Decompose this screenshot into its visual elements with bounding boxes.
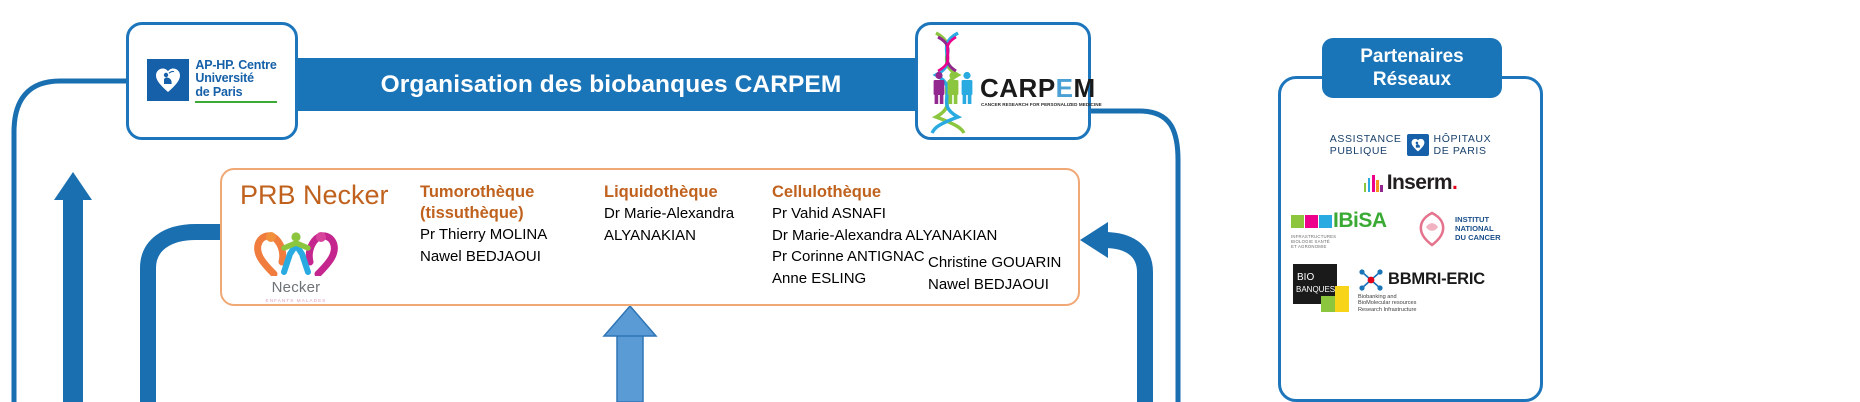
partner-logo-inca: INSTITUT NATIONAL DU CANCER (1412, 209, 1530, 249)
aphp-wordmark: AP-HP. Centre Université de Paris (195, 59, 276, 104)
person-name: ALYANAKIAN (604, 225, 764, 247)
column-heading-line-2: (tissuthèque) (420, 203, 605, 224)
bbmri-subtitle-line-3: Research Infrastructure (1358, 307, 1416, 313)
partners-header-pill: Partenaires Réseaux (1322, 38, 1502, 98)
person-name: Pr Thierry MOLINA (420, 224, 605, 246)
aphp-line-1: AP-HP. Centre (195, 59, 276, 73)
carpem-wordmark: CARPEM (980, 75, 1096, 101)
person-name: Anne ESLING (772, 268, 947, 290)
bbmri-network-icon (1358, 267, 1384, 293)
ibisa-subtitle-line-3: ET AGRONOMIE (1291, 244, 1327, 249)
person-name: Nawel BEDJAOUI (420, 246, 605, 268)
inserm-dot: . (1452, 171, 1457, 194)
biobanques-mark-icon: BIO BANQUES (1291, 262, 1351, 314)
right-in-arrowhead (1080, 222, 1108, 258)
bbmri-wordmark: BBMRI-ERIC (1388, 270, 1485, 289)
carpem-word-accent: E (1056, 73, 1074, 103)
left-inner-curve (148, 232, 226, 402)
ibisa-square-blue (1319, 215, 1332, 228)
aphp-line-3: de Paris (195, 86, 276, 100)
partner-logo-bbmri-eric: BBMRI-ERIC Biobanking and BioMolecular r… (1358, 267, 1530, 314)
partner-logo-ibisa: IBiSA INFRASTRUCTURES BIOLOGIE SANTÉ ET … (1291, 209, 1399, 250)
person-name: Pr Vahid ASNAFI (772, 203, 947, 225)
partner-logo-list: ASSISTANCE PUBLIQUE HÔPITAUX DE PARIS (1281, 131, 1540, 319)
aphp-hopitaux-label: HÔPITAUX (1434, 133, 1492, 145)
column-heading-line-1: Tumorothèque (420, 182, 605, 203)
necker-wordmark: Necker (244, 279, 348, 296)
partner-logo-aphp: ASSISTANCE PUBLIQUE HÔPITAUX DE PARIS (1291, 133, 1530, 157)
column-extra-staff: Christine GOUARIN Nawel BEDJAOUI (928, 252, 1078, 295)
heart-baby-icon (147, 59, 189, 101)
inca-ribbon-icon (1412, 209, 1452, 249)
aphp-line-2: Université (195, 72, 276, 86)
aphp-green-rule (195, 101, 276, 103)
bottom-center-up-arrow (604, 306, 656, 402)
ibisa-square-green (1291, 215, 1304, 228)
header-banner: Organisation des biobanques CARPEM (288, 58, 934, 111)
right-inner-curve (1104, 240, 1145, 402)
ibisa-subtitle: INFRASTRUCTURES BIOLOGIE SANTÉ ET AGRONO… (1291, 234, 1399, 250)
bbmri-subtitle-line-1: Biobanking and (1358, 294, 1397, 300)
inserm-wordmark: Inserm. (1387, 171, 1458, 195)
partner-logo-inserm: Inserm. (1291, 171, 1530, 195)
partner-row-3: BIO BANQUES (1291, 262, 1530, 319)
partners-panel: ASSISTANCE PUBLIQUE HÔPITAUX DE PARIS (1278, 76, 1543, 402)
aphp-heart-icon (1407, 134, 1429, 156)
column-heading-line-1: Liquidothèque (604, 182, 764, 203)
aphp-assistance-label: ASSISTANCE (1330, 133, 1402, 145)
aphp-publique-label: PUBLIQUE (1330, 145, 1402, 157)
partner-row-2: IBiSA INFRASTRUCTURES BIOLOGIE SANTÉ ET … (1291, 209, 1530, 250)
column-heading-line-1: Cellulothèque (772, 182, 947, 203)
ibisa-wordmark: IBiSA (1333, 209, 1387, 233)
prb-necker-title: PRB Necker (240, 180, 389, 211)
left-up-arrow-shaft (63, 196, 83, 402)
person-name: Dr Marie-Alexandra (604, 203, 764, 225)
svg-text:BIO: BIO (1297, 272, 1314, 283)
person-name: Nawel BEDJAOUI (928, 274, 1078, 296)
person-name: Pr Corinne ANTIGNAC (772, 246, 947, 268)
aphp-deparis-label: DE PARIS (1434, 145, 1492, 157)
bbmri-subtitle: Biobanking and BioMolecular resources Re… (1358, 294, 1530, 314)
aphp-logo-card: AP-HP. Centre Université de Paris (126, 22, 298, 140)
necker-logo: Necker ENFANTS MALADES (244, 228, 348, 303)
partner-logo-biobanques: BIO BANQUES (1291, 262, 1353, 319)
ibisa-square-pink (1305, 215, 1318, 228)
children-heart-icon (244, 228, 348, 276)
column-liquidotheque: Liquidothèque Dr Marie-Alexandra ALYANAK… (604, 182, 764, 246)
bbmri-subtitle-line-2: BioMolecular resources (1358, 300, 1416, 306)
person-name: Dr Marie-Alexandra ALYANAKIAN (772, 225, 947, 247)
column-tumorotheque: Tumorothèque (tissuthèque) Pr Thierry MO… (420, 182, 605, 267)
carpem-word-part-2: M (1074, 73, 1096, 103)
left-up-arrow-head (54, 172, 92, 200)
inserm-wordmark-text: Inserm (1387, 171, 1452, 194)
partners-header-line-1: Partenaires (1360, 45, 1464, 68)
column-cellulotheque: Cellulothèque Pr Vahid ASNAFI Dr Marie-A… (772, 182, 947, 289)
inserm-bars-icon (1364, 175, 1383, 192)
partners-header-line-2: Réseaux (1373, 68, 1451, 91)
person-name: Christine GOUARIN (928, 252, 1078, 274)
page-title: Organisation des biobanques CARPEM (381, 71, 842, 99)
three-people-icon (932, 71, 976, 105)
carpem-tagline: CANCER RESEARCH FOR PERSONALIZED MEDICIN… (981, 102, 1089, 107)
carpem-logo-card: CARPEM CANCER RESEARCH FOR PERSONALIZED … (915, 22, 1091, 140)
diagram-canvas: AP-HP. Centre Université de Paris Organi… (0, 0, 1860, 402)
prb-necker-panel: PRB Necker Necker ENFANTS MALADES Tumoro… (220, 168, 1080, 306)
svg-text:BANQUES: BANQUES (1296, 285, 1335, 294)
necker-subtitle: ENFANTS MALADES (244, 298, 348, 303)
inca-line-3: DU CANCER (1455, 234, 1501, 243)
carpem-word-part-1: CARP (980, 73, 1056, 103)
